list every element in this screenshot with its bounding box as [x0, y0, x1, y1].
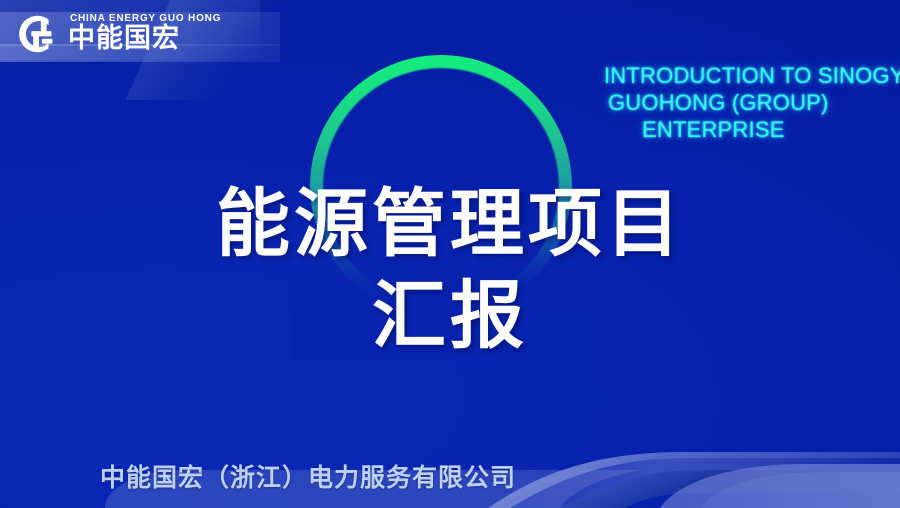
- logo-circle-g-icon: [14, 10, 62, 58]
- english-heading-line-3: ENTERPRISE: [604, 116, 900, 143]
- logo-chinese-name: 中能国宏: [68, 24, 221, 54]
- presentation-title-slide: CHINA ENERGY GUO HONG 中能国宏 INTRODUCTION …: [0, 0, 900, 508]
- english-heading-line-1: INTRODUCTION TO SINOGY: [604, 62, 900, 89]
- footer-company-name: 中能国宏（浙江）电力服务有限公司: [100, 458, 516, 494]
- english-heading-line-2: GUOHONG (GROUP): [604, 89, 900, 116]
- brand-logo[interactable]: CHINA ENERGY GUO HONG 中能国宏: [14, 10, 221, 58]
- logo-wordmark: CHINA ENERGY GUO HONG 中能国宏: [68, 13, 221, 54]
- english-heading: INTRODUCTION TO SINOGY GUOHONG (GROUP) E…: [604, 62, 900, 143]
